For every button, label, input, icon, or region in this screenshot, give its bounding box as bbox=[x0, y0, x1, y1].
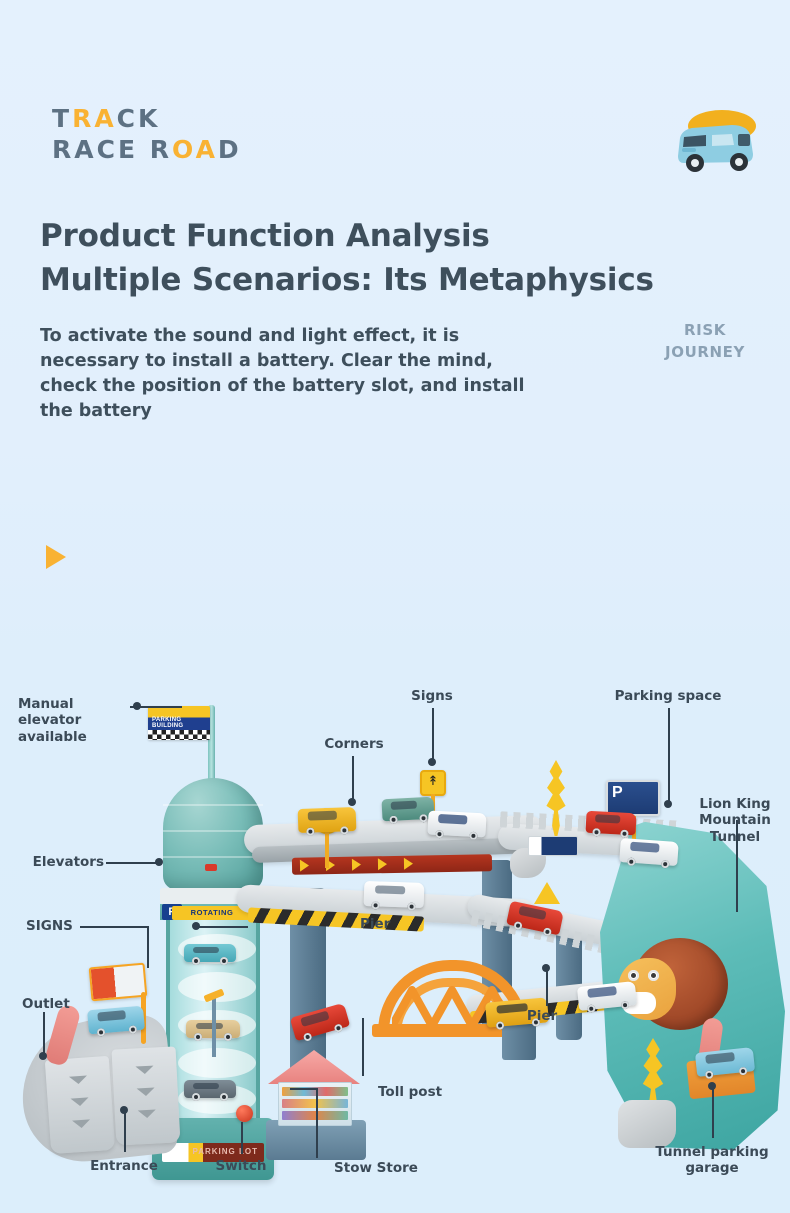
leader-dot-pier-right bbox=[542, 964, 550, 972]
brand-logo-line1: TRACK bbox=[52, 104, 372, 135]
label-switch: Switch bbox=[202, 1158, 280, 1174]
leader-signs-left-v bbox=[147, 926, 149, 968]
entrance-ramp-a bbox=[45, 1056, 115, 1154]
label-signs-left: SIGNS bbox=[26, 918, 86, 934]
toy-car-police-lower bbox=[577, 981, 637, 1011]
toy-car-icon bbox=[660, 104, 770, 182]
leader-dot-elevators bbox=[155, 858, 163, 866]
elevator-car-teal bbox=[184, 944, 236, 962]
leader-tunnel-garage bbox=[712, 1086, 714, 1138]
track-red-chevron-band bbox=[292, 854, 492, 874]
toll-post-pole bbox=[212, 995, 216, 1057]
page-title-line2: Multiple Scenarios: Its Metaphysics bbox=[40, 258, 740, 302]
toy-bus-yellow bbox=[298, 807, 357, 833]
entrance-ramp-b bbox=[112, 1046, 181, 1145]
bridge-support bbox=[502, 1024, 536, 1060]
store-roof bbox=[268, 1050, 360, 1084]
side-note-line2: JOURNEY bbox=[640, 342, 770, 364]
label-elevators: Elevators bbox=[10, 854, 104, 870]
lion-mountain-track-sign bbox=[528, 836, 578, 856]
label-toll-post: Toll post bbox=[378, 1084, 468, 1100]
play-triangle-icon[interactable] bbox=[46, 545, 66, 569]
side-note-line1: RISK bbox=[640, 320, 770, 342]
leader-dot-outlet bbox=[39, 1052, 47, 1060]
body-paragraph: To activate the sound and light effect, … bbox=[40, 324, 540, 423]
road-sign-signs-top: ↟ bbox=[420, 770, 446, 796]
parking-building-flag: PARKINGBUILDING bbox=[148, 706, 210, 740]
leader-outlet bbox=[43, 1012, 45, 1056]
leader-dot-manual-elevator bbox=[133, 702, 141, 710]
label-parking-space: Parking space bbox=[608, 688, 728, 704]
leader-stow-store-h bbox=[290, 1088, 318, 1090]
leader-pier-left-h bbox=[196, 926, 248, 928]
leader-corners bbox=[352, 756, 354, 802]
brand-logo: TRACK RACE ROAD bbox=[52, 104, 372, 165]
outlet-billboard-sign bbox=[89, 963, 148, 1002]
toy-car-red-upper bbox=[585, 811, 636, 836]
page-title-line1: Product Function Analysis bbox=[40, 214, 740, 258]
label-outlet: Outlet bbox=[22, 996, 92, 1012]
label-lion-king-tunnel: Lion King Mountain Tunnel bbox=[672, 796, 790, 845]
product-diagram: PARKINGBUILDING P ROTATING P PARKING LOT bbox=[0, 620, 790, 1213]
leader-dot-tunnel-garage bbox=[708, 1082, 716, 1090]
leader-dot-corners bbox=[348, 798, 356, 806]
parking-lot-sign-right: PARKING LOT bbox=[192, 1147, 258, 1156]
leader-stow-store-v bbox=[316, 1088, 318, 1158]
parking-space-sign: P bbox=[606, 780, 660, 816]
leader-signs-left-h bbox=[80, 926, 148, 928]
flag-line2: BUILDING bbox=[152, 723, 183, 729]
leader-elevators bbox=[106, 862, 162, 864]
leader-dot-parking-space bbox=[664, 800, 672, 808]
toy-car-white-mid bbox=[364, 881, 425, 908]
label-entrance: Entrance bbox=[82, 1158, 166, 1174]
page-title: Product Function Analysis Multiple Scena… bbox=[40, 214, 740, 302]
leader-signs-top bbox=[432, 708, 434, 762]
leader-dot-entrance bbox=[120, 1106, 128, 1114]
flag-checker-pattern bbox=[148, 730, 210, 740]
toy-car-police bbox=[427, 810, 486, 837]
leader-pier-right bbox=[546, 968, 548, 1006]
label-stow-store: Stow Store bbox=[322, 1160, 430, 1176]
toy-car-white-tunnel bbox=[619, 838, 679, 866]
leader-entrance bbox=[124, 1110, 126, 1152]
warning-triangle-sign bbox=[534, 882, 560, 904]
elevator-car-dark bbox=[184, 1080, 236, 1098]
toy-car-green bbox=[381, 797, 434, 822]
leader-toll-post bbox=[362, 1018, 364, 1076]
label-signs-top: Signs bbox=[400, 688, 464, 704]
label-pier-right: Pier bbox=[512, 1008, 572, 1024]
flag-line1: PARKING bbox=[152, 717, 181, 723]
label-pier-left: Pier bbox=[360, 916, 420, 932]
leader-dot-pier-left bbox=[192, 922, 200, 930]
brand-logo-line2: RACE ROAD bbox=[52, 135, 372, 166]
toy-car-blue-outlet bbox=[87, 1006, 145, 1035]
rock-cluster bbox=[618, 1100, 676, 1148]
label-corners: Corners bbox=[318, 736, 390, 752]
label-tunnel-parking-garage: Tunnel parking garage bbox=[648, 1144, 776, 1177]
toy-car-tunnel bbox=[695, 1047, 755, 1077]
leader-parking-space bbox=[668, 708, 670, 804]
switch-knob[interactable] bbox=[236, 1105, 253, 1122]
leader-switch bbox=[241, 1122, 243, 1154]
leader-dot-signs-top bbox=[428, 758, 436, 766]
side-note: RISK JOURNEY bbox=[640, 320, 770, 364]
label-manual-elevator: Manual elevator available bbox=[18, 696, 134, 745]
